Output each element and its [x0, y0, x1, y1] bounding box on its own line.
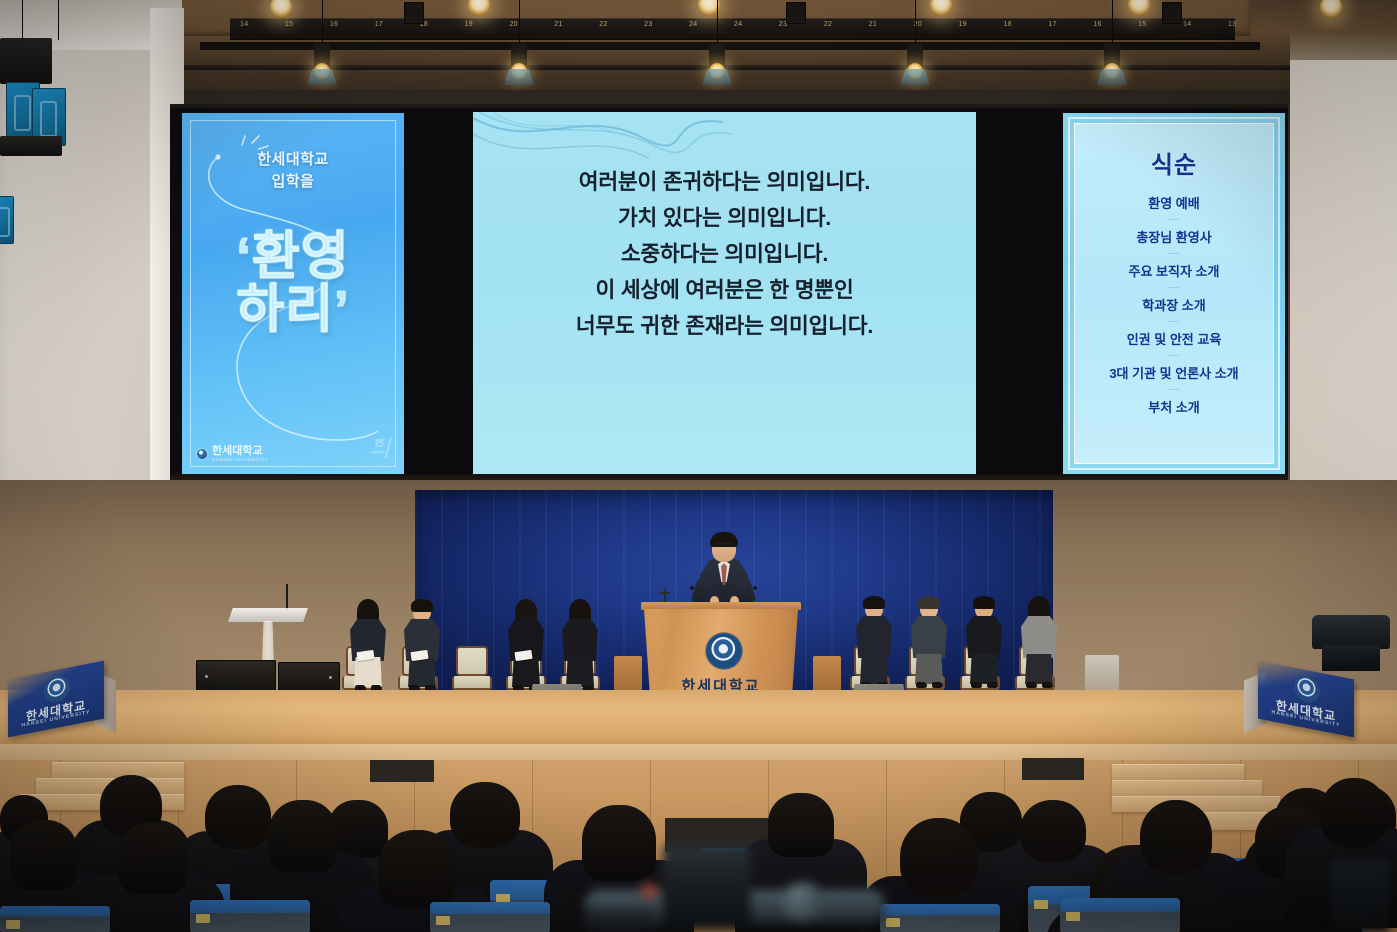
lectern-top: [228, 608, 308, 622]
audience-head: [10, 820, 78, 890]
center-slide-text: 여러분이 존귀하다는 의미입니다. 가치 있다는 의미입니다. 소중하다는 의미…: [473, 164, 976, 345]
truss-number: 17: [1048, 21, 1056, 28]
truss-number: 18: [1003, 21, 1011, 28]
left-slide-university-logo: 한세대학교 HANSEI UNIVERSITY: [196, 446, 268, 463]
center-slide-line: 여러분이 존귀하다는 의미입니다.: [473, 164, 976, 200]
center-slide-line: 너무도 귀한 존재라는 의미입니다.: [473, 308, 976, 344]
program-separator: —: [1077, 316, 1271, 327]
truss-number: 15: [285, 21, 293, 28]
seated-person: [399, 601, 445, 699]
truss-number: 21: [869, 21, 877, 28]
audience-head: [1020, 800, 1086, 862]
audience-head: [1320, 778, 1388, 848]
truss-number: 14: [240, 21, 248, 28]
program-item: 3대 기관 및 언론사 소개: [1077, 361, 1271, 384]
seated-person: [851, 598, 897, 696]
truss-number: 13: [1228, 21, 1236, 28]
seat-number-tag: [6, 920, 20, 929]
truss-number: 24: [689, 21, 697, 28]
stage-banner-right: 한세대학교 HANSEI UNIVERSITY: [1258, 670, 1368, 732]
stage-light: [305, 43, 339, 89]
audience-head: [900, 818, 978, 898]
seat-number-tag: [436, 916, 450, 925]
right-slide-panel: 식순 환영 예배—총장님 환영사—주요 보직자 소개—학과장 소개—인권 및 안…: [1063, 113, 1285, 475]
program-separator: —: [1077, 282, 1271, 293]
university-seal-icon: [706, 633, 742, 669]
seat-number-tag: [196, 914, 210, 923]
truss-number: 22: [599, 21, 607, 28]
seat-number-tag: [1066, 912, 1080, 921]
program-item: 부처 소개: [1077, 395, 1271, 418]
truss-number: 14: [1183, 21, 1191, 28]
audience-head: [205, 785, 271, 849]
truss-number: 17: [375, 21, 383, 28]
stage-banner-left: 한세대학교 HANSEI UNIVERSITY: [8, 670, 118, 732]
screen-bezel-gap-right: [976, 108, 1063, 480]
seated-person: [1016, 598, 1062, 696]
stage-light: [1095, 43, 1129, 89]
stage-light: [700, 43, 734, 89]
seated-person: [906, 598, 952, 696]
floor-equipment-case: [196, 660, 276, 692]
left-slide-corner-mark: ᅙᅴ: [370, 431, 388, 463]
center-slide-line: 가치 있다는 의미입니다.: [473, 200, 976, 236]
stage-right-equipment-base: [1322, 645, 1380, 671]
truss-number: 21: [554, 21, 562, 28]
presenter-figure: [688, 534, 760, 606]
screen-bezel-gap-left: [404, 108, 473, 480]
microphone-head-icon: [753, 586, 757, 590]
left-slide-headline: ‘환영 하리’: [182, 231, 404, 337]
program-separator: —: [1077, 350, 1271, 361]
auditorium-seat: [190, 900, 310, 932]
logo-text-ko: 한세대학교: [212, 446, 268, 457]
audience-head: [118, 822, 188, 894]
left-slide-line2: 입학을: [182, 171, 404, 193]
truss-number: 20: [509, 21, 517, 28]
left-slide-heading: 한세대학교 입학을: [182, 149, 404, 193]
auditorium-seat: [430, 902, 550, 932]
foreground-camera-rig: [585, 838, 905, 932]
center-slide-line: 소중하다는 의미입니다.: [473, 236, 976, 272]
truss-number: 16: [330, 21, 338, 28]
truss-number: 15: [1138, 21, 1146, 28]
rigging-wire: [915, 0, 916, 44]
seat-number-tag: [1034, 900, 1048, 909]
seated-person: [961, 598, 1007, 696]
center-slide-panel: 여러분이 존귀하다는 의미입니다. 가치 있다는 의미입니다. 소중하다는 의미…: [473, 112, 976, 474]
microphone-head-icon: [690, 586, 694, 590]
rigging-wire: [717, 0, 718, 44]
rigging-wire: [519, 0, 520, 44]
audience-head: [378, 830, 456, 908]
left-slide-headline-1: ‘환영: [182, 231, 404, 284]
program-item: 환영 예배: [1077, 191, 1271, 214]
center-slide-line: 이 세상에 여러분은 한 명뿐인: [473, 272, 976, 308]
ceiling-speaker: [1162, 2, 1182, 24]
program-separator: —: [1077, 384, 1271, 395]
university-seal-icon: [196, 448, 208, 460]
audience-head: [1140, 800, 1212, 874]
audience-head: [268, 800, 338, 872]
stage-floor: [0, 690, 1397, 750]
truss-number: 22: [824, 21, 832, 28]
floor-equipment-case: [278, 662, 340, 692]
program-list: 환영 예배—총장님 환영사—주요 보직자 소개—학과장 소개—인권 및 안전 교…: [1077, 191, 1271, 418]
right-wall: [1290, 60, 1397, 530]
ceiling-speaker: [404, 2, 424, 24]
ceiling-speaker: [786, 2, 806, 24]
program-separator: —: [1077, 248, 1271, 259]
podium-top: [641, 602, 801, 610]
audience-head: [450, 782, 520, 848]
wireless-antenna-icon: [286, 584, 288, 610]
left-slide-panel: 한세대학교 입학을 ‘환영 하리’ 한세대학교 HANSEI UNIVERSIT…: [182, 113, 404, 475]
seated-person: [345, 601, 391, 699]
truss-number: 19: [959, 21, 967, 28]
stage-light: [502, 43, 536, 89]
auditorium-seat: [1060, 898, 1180, 932]
truss-number: 19: [465, 21, 473, 28]
program-separator: —: [1077, 214, 1271, 225]
program-item: 인권 및 안전 교육: [1077, 327, 1271, 350]
wall-vent: [370, 760, 434, 782]
stage-right-equipment: [1312, 615, 1390, 649]
rigging-wire: [1112, 0, 1113, 44]
wall-vent: [1022, 758, 1084, 780]
auditorium-seat: [0, 906, 110, 932]
rigging-wire: [322, 0, 323, 44]
truss-number: 16: [1093, 21, 1101, 28]
stage-light: [898, 43, 932, 89]
program-item: 주요 보직자 소개: [1077, 259, 1271, 282]
truss-number: 23: [644, 21, 652, 28]
program-title: 식순: [1063, 145, 1285, 180]
logo-text-en: HANSEI UNIVERSITY: [212, 457, 268, 463]
program-item: 학과장 소개: [1077, 293, 1271, 316]
left-slide-headline-2: 하리’: [182, 284, 404, 337]
program-item: 총장님 환영사: [1077, 225, 1271, 248]
auditorium-scene: 1415161718192021222324242322212019181716…: [0, 0, 1397, 932]
left-slide-line1: 한세대학교: [182, 149, 404, 171]
truss-number: 24: [734, 21, 742, 28]
foreground-tripod: [1330, 860, 1390, 932]
